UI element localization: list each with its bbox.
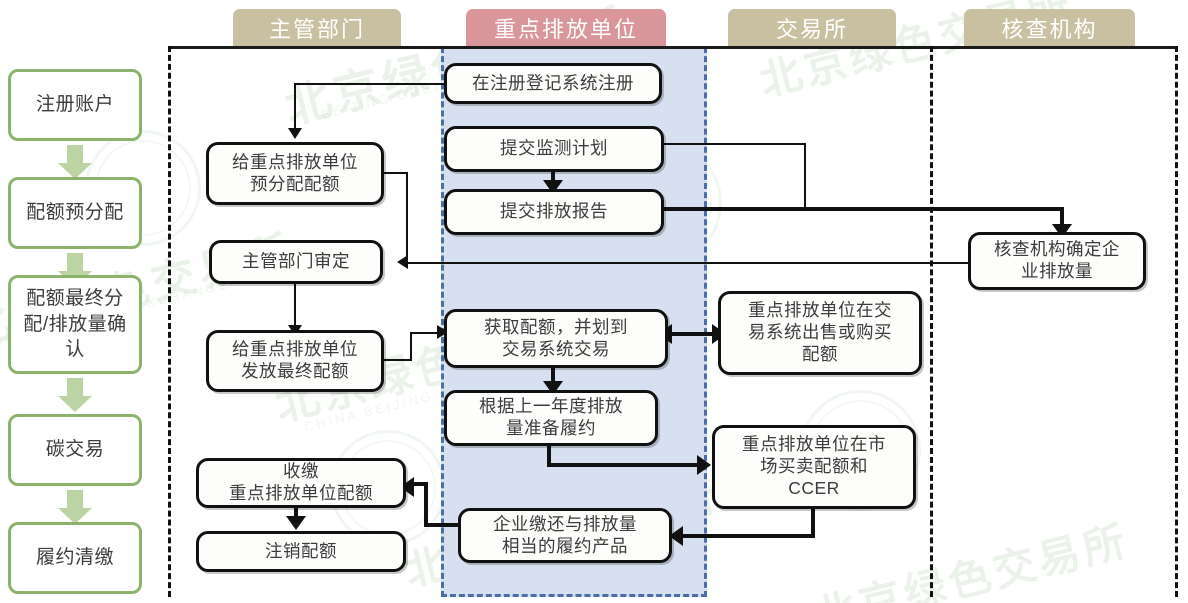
stage-box-register[interactable]: 注册账户 (8, 69, 142, 141)
node-prepare-compliance[interactable]: 根据上一年度排放量准备履约 (444, 390, 658, 446)
conn-surrender-to-collect-v (424, 484, 428, 525)
conn-verifier-to-review-h (408, 262, 974, 264)
conn-review-to-final-v (294, 282, 296, 327)
lane-divider-exchange-verifier (930, 46, 933, 597)
conn-register-to-prealloc-h (295, 83, 448, 85)
node-collect[interactable]: 收缴重点排放单位配额 (196, 458, 406, 508)
lane-divider-right (1175, 46, 1178, 597)
flowchart-canvas: 北京绿色交易所 BEIJING GREEN EXCHANGE 北京绿色交易所 C… (0, 0, 1188, 603)
conn-prealloc-out-v (406, 172, 408, 263)
conn-surrender-to-collect-h2 (410, 482, 428, 486)
node-get-quota[interactable]: 获取配额，并划到交易系统交易 (444, 309, 668, 368)
conn-monitorplan-out-v (804, 143, 806, 209)
node-final-alloc[interactable]: 给重点排放单位发放最终配额 (206, 330, 384, 392)
conn-prepare-to-market-arrow (697, 455, 711, 475)
conn-prepare-to-market-h (547, 463, 703, 467)
stage-arrow-4 (58, 490, 92, 526)
swimlane-top-border (168, 46, 1178, 49)
stage-box-compliance[interactable]: 履约清缴 (8, 522, 142, 594)
conn-register-to-prealloc-arrow (288, 128, 302, 139)
conn-final-out-h (383, 359, 412, 361)
lane-tab-emitter[interactable]: 重点排放单位 (466, 9, 666, 46)
lane-tab-exchange[interactable]: 交易所 (728, 9, 896, 46)
node-register[interactable]: 在注册登记系统注册 (444, 63, 662, 104)
conn-register-to-prealloc-v (294, 83, 296, 129)
node-exchange-trade[interactable]: 重点排放单位在交易系统出售或购买配额 (718, 291, 922, 375)
conn-verifier-to-review-arrow (397, 255, 408, 269)
node-verify-emissions[interactable]: 核查机构确定企业排放量 (968, 232, 1146, 290)
stage-box-prealloc[interactable]: 配额预分配 (8, 177, 142, 249)
conn-report-to-verifier-h (664, 207, 1064, 211)
lane-divider-left (168, 46, 171, 597)
stage-box-finalalloc[interactable]: 配额最终分配/排放量确认 (8, 275, 142, 374)
node-emission-report[interactable]: 提交排放报告 (444, 189, 664, 235)
stage-box-trading[interactable]: 碳交易 (8, 414, 142, 486)
node-surrender[interactable]: 企业缴还与排放量相当的履约产品 (458, 508, 672, 563)
lane-tab-verifier[interactable]: 核查机构 (964, 9, 1135, 46)
conn-prealloc-out-h (383, 172, 408, 174)
conn-final-to-getquota-h (410, 332, 440, 334)
stage-arrow-3 (58, 378, 92, 414)
node-market-trade[interactable]: 重点排放单位在市场买卖配额和CCER (712, 425, 916, 509)
conn-monitorplan-out-h (664, 143, 806, 145)
node-monitor-plan[interactable]: 提交监测计划 (444, 126, 664, 172)
node-cancel[interactable]: 注销配额 (196, 531, 406, 572)
conn-collect-to-cancel-arrow (286, 516, 306, 530)
watermark-brand-cn-5: 北京绿色交易所 (807, 507, 1134, 603)
conn-final-out-v (410, 333, 412, 360)
stage-arrow-1 (58, 145, 92, 181)
conn-market-to-surrender-h (679, 534, 815, 538)
conn-getquota-exchange-h (668, 332, 718, 336)
node-authority-review[interactable]: 主管部门审定 (209, 240, 383, 284)
node-prealloc[interactable]: 给重点排放单位预分配配额 (206, 142, 384, 205)
lane-tab-authority[interactable]: 主管部门 (233, 9, 401, 46)
